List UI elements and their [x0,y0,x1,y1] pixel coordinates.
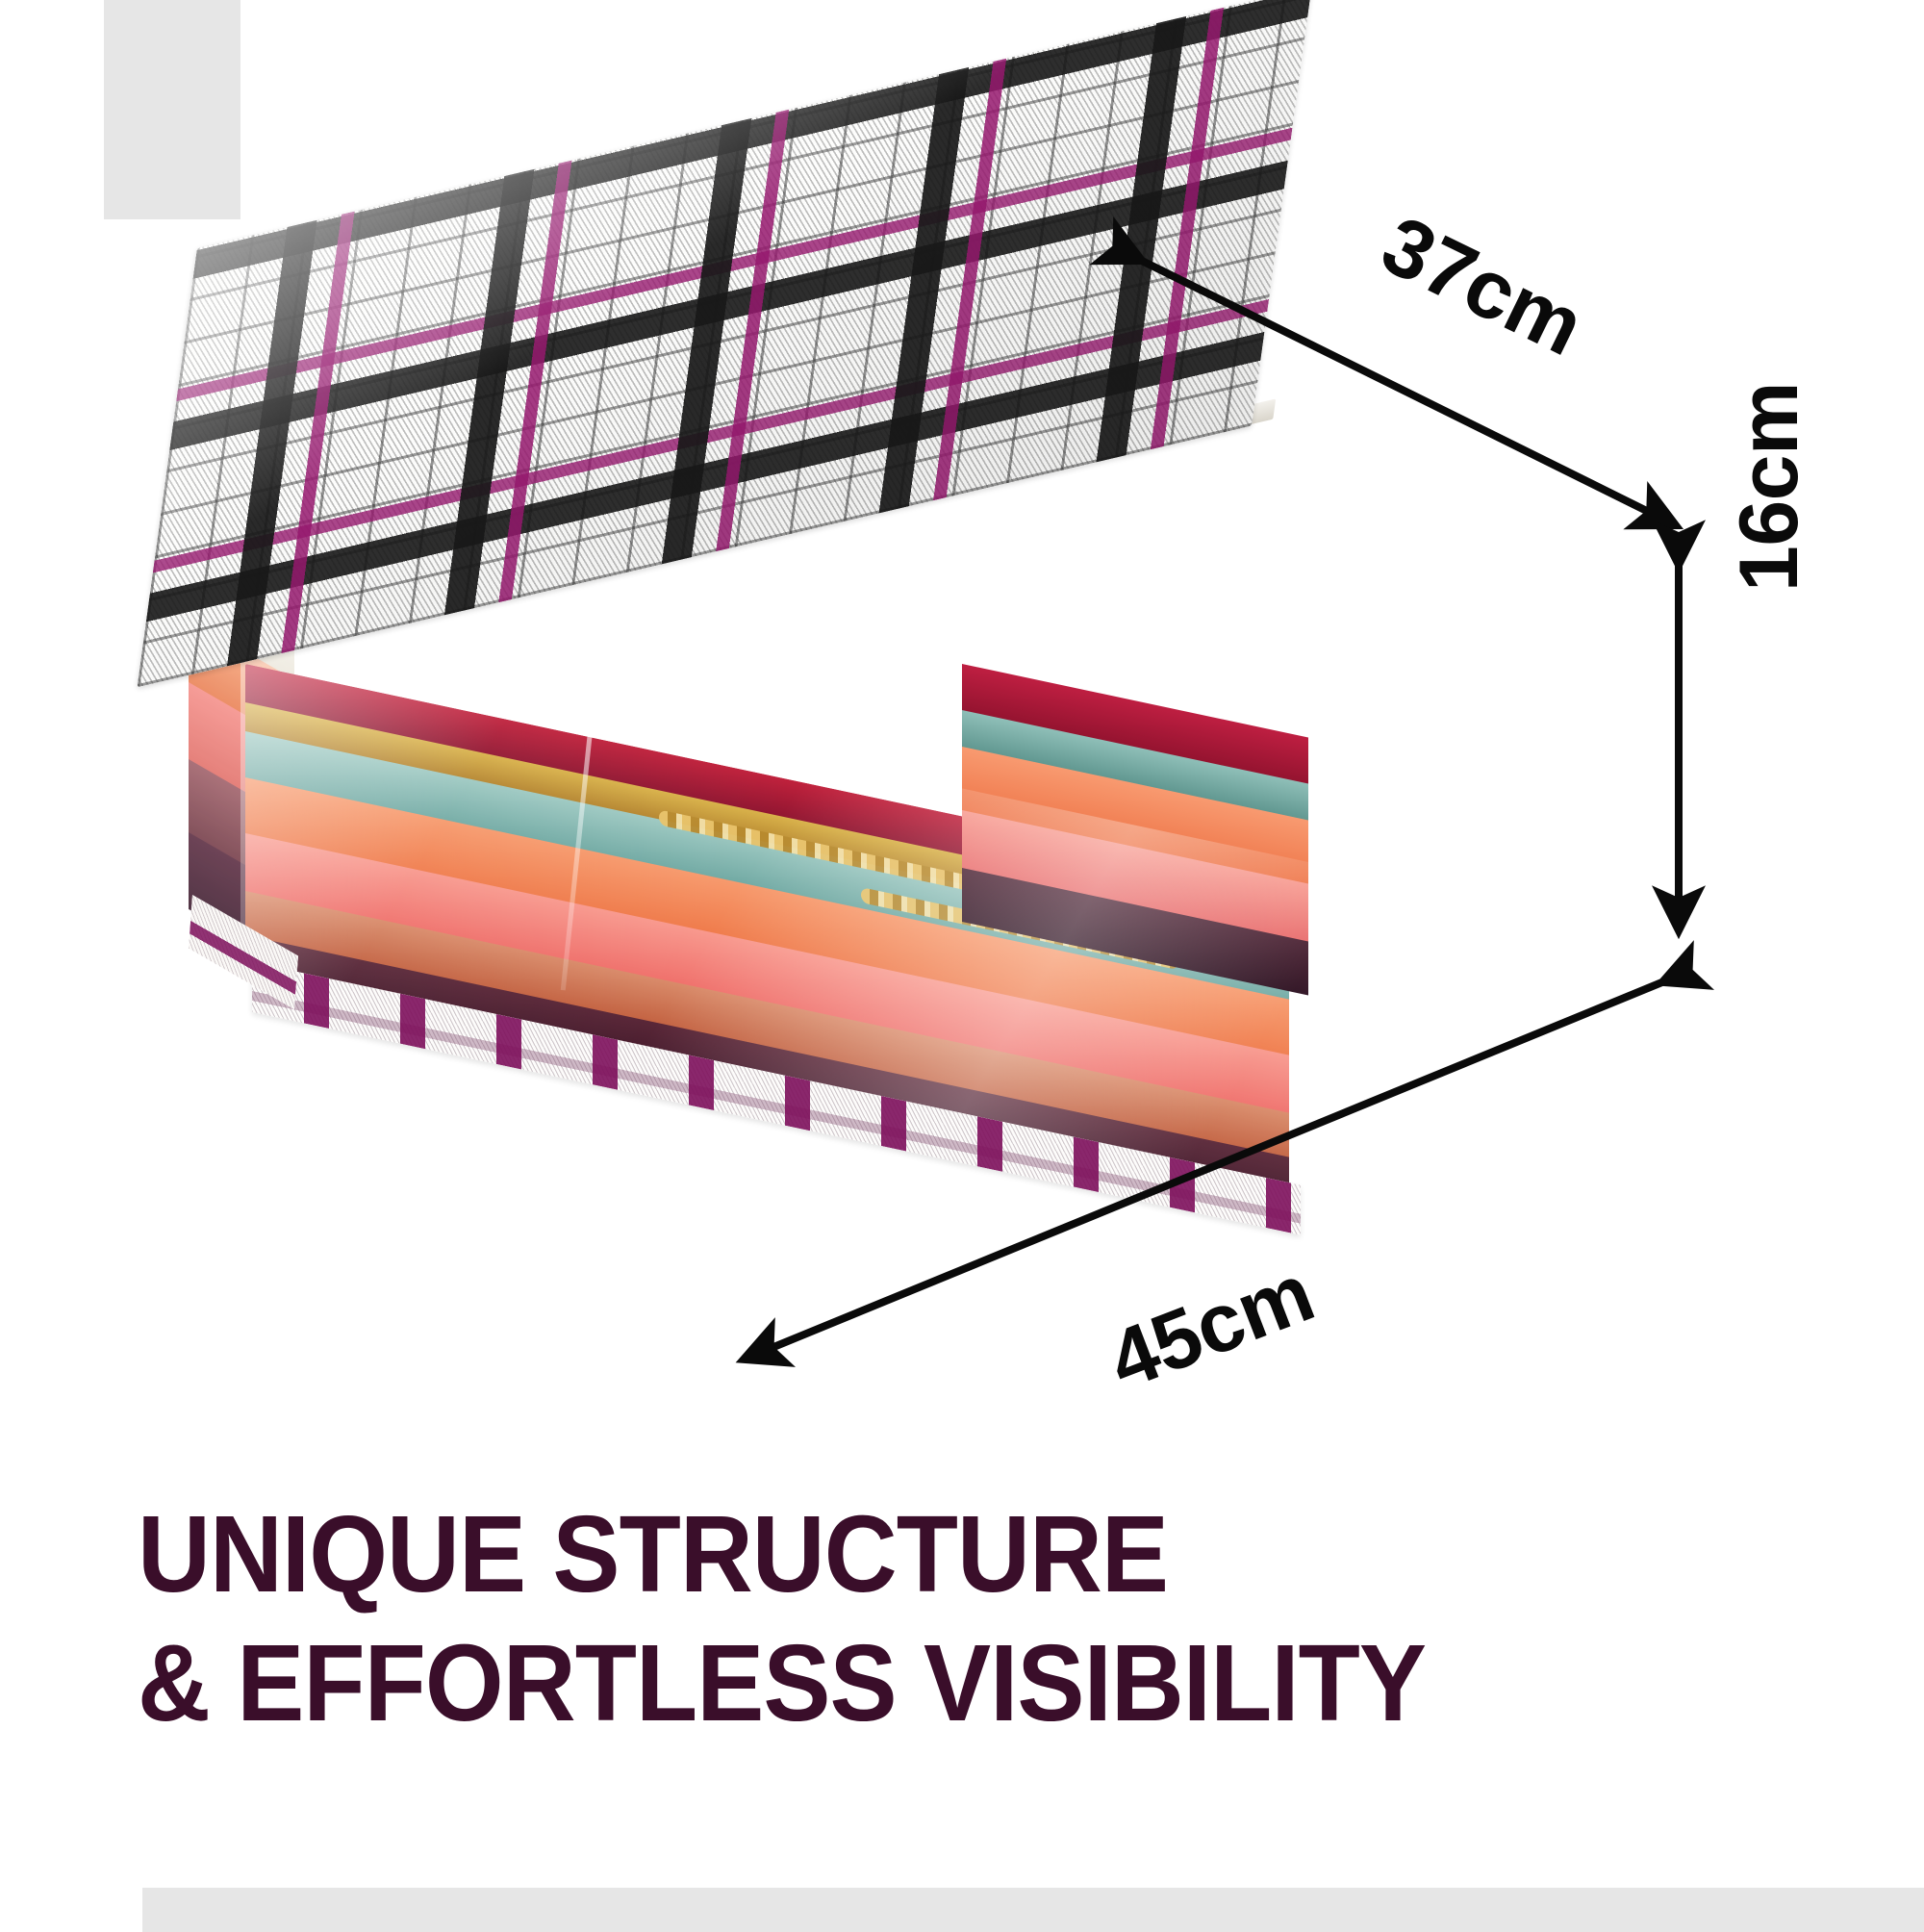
headline-line-2: & EFFORTLESS VISIBILITY [138,1618,1658,1747]
plaid-pattern-lid [137,0,1311,687]
bag-lid-plaid-top [137,0,1311,687]
headline-line-1: UNIQUE STRUCTURE [138,1489,1658,1618]
infographic-canvas: 37cm 16cm 45cm UNIQUE STRUCTURE & EFFORT… [0,0,1924,1924]
dimension-label-height: 16cm [1722,382,1817,592]
headline-block: UNIQUE STRUCTURE & EFFORTLESS VISIBILITY [138,1489,1658,1748]
